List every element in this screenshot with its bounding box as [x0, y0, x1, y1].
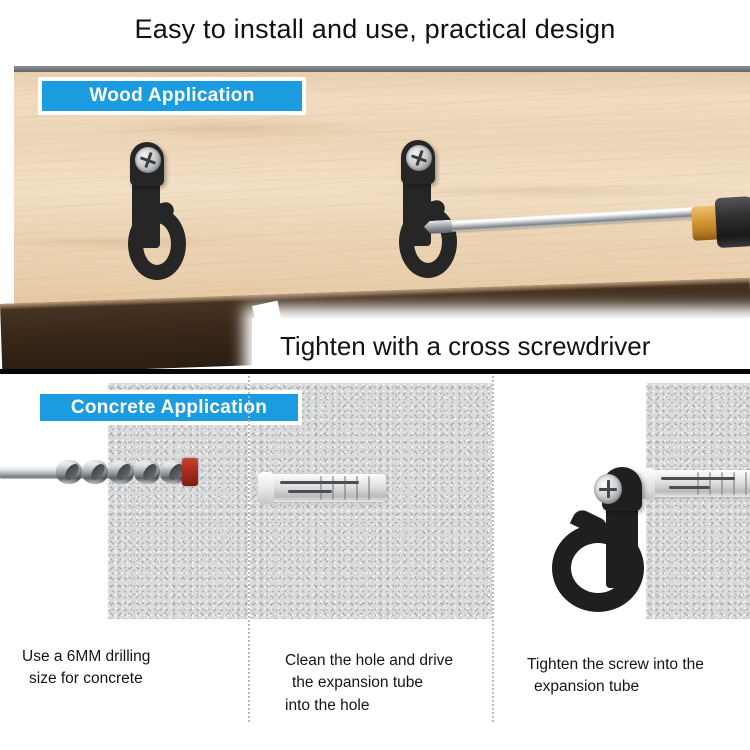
panel-divider-1	[248, 376, 250, 722]
wood-caption-text: Tighten with a cross screwdriver	[258, 331, 650, 362]
caption-line: Use a 6MM drilling	[22, 646, 232, 668]
expansion-tube-rib	[733, 472, 735, 495]
phillips-screw-icon	[135, 147, 161, 173]
wood-caption-band: Tighten with a cross screwdriver	[258, 321, 750, 371]
drill-bit-flutes	[56, 460, 196, 484]
step-caption-insert-tube: Clean the hole and drive the expansion t…	[285, 650, 490, 717]
expansion-tube-rib	[368, 476, 370, 500]
expansion-tube-rib	[344, 476, 346, 500]
expansion-tube-rib	[697, 472, 699, 495]
product-infographic: Easy to install and use, practical desig…	[0, 0, 750, 750]
expansion-tube-rib	[721, 472, 723, 495]
caption-line: Clean the hole and drive	[285, 650, 490, 672]
caption-line: into the hole	[285, 695, 490, 717]
expansion-tube-rib	[320, 476, 322, 500]
caption-line: expansion tube	[527, 676, 739, 698]
step-caption-drill: Use a 6MM drilling size for concrete	[22, 646, 232, 691]
panel-divider-2	[492, 376, 494, 722]
badge-concrete-application: Concrete Application	[36, 390, 302, 425]
caption-line: the expansion tube	[285, 672, 490, 694]
screwdriver-handle	[715, 196, 750, 248]
expansion-tube	[258, 474, 386, 502]
page-title: Easy to install and use, practical desig…	[0, 14, 750, 45]
expansion-tube-rib	[356, 476, 358, 500]
expansion-tube-rib	[332, 476, 334, 500]
expansion-tube-collar	[258, 472, 274, 504]
drill-bit-carbide-tip	[182, 458, 198, 486]
step-caption-tighten-screw: Tighten the screw into the expansion tub…	[527, 654, 739, 699]
concrete-block	[646, 383, 750, 619]
phillips-screw-icon	[594, 474, 622, 504]
expansion-tube-rib	[745, 472, 747, 495]
caption-line: size for concrete	[22, 668, 232, 690]
phillips-screw-icon	[406, 145, 432, 171]
badge-wood-application: Wood Application	[38, 77, 306, 115]
expansion-tube-slot	[280, 481, 359, 484]
expansion-tube-slot	[288, 490, 332, 493]
expansion-tube-slot	[661, 477, 735, 480]
step-panel-drill	[0, 374, 248, 750]
expansion-tube-slot	[669, 486, 710, 489]
expansion-tube	[639, 470, 750, 497]
expansion-tube-rib	[709, 472, 711, 495]
wood-application-section: Tighten with a cross screwdriver Wood Ap…	[0, 66, 750, 371]
caption-line: Tighten the screw into the	[527, 654, 739, 676]
